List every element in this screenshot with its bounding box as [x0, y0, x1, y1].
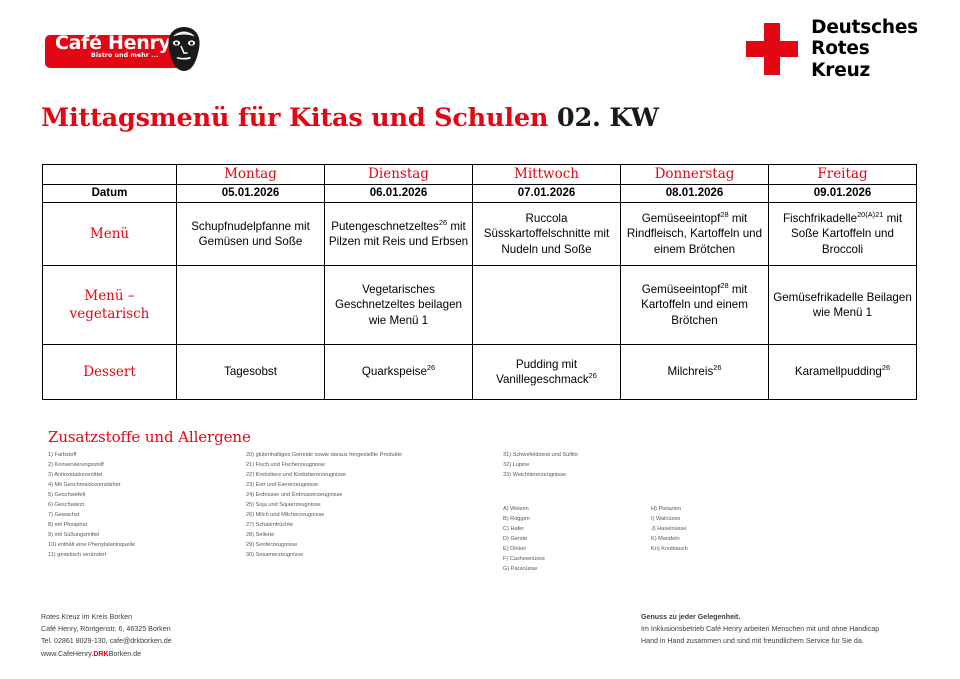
legend-item: F) Cashewnüsse — [503, 555, 545, 565]
row-label-menu: Menü — [43, 203, 177, 266]
legend-item: I) Walnüsse — [651, 515, 688, 525]
menu-veg-montag — [177, 266, 325, 345]
page-header: Café Henry Bistro und mehr ... Deutsches… — [0, 0, 960, 96]
legend-title: Zusatzstoffe und Allergene — [48, 428, 928, 446]
dessert-montag: Tagesobst — [177, 345, 325, 400]
legend-item: 27) Schalenfrüchte — [246, 521, 402, 531]
footer-org-name: Rotes Kreuz im Kreis Borken — [41, 611, 172, 623]
cafe-henry-logo-tagline: Bistro und mehr ... — [91, 52, 159, 59]
drk-logo-text: Deutsches Rotes Kreuz — [811, 17, 918, 82]
day-header-dienstag: Dienstag — [325, 165, 473, 185]
legend-item: G) Paranüsse — [503, 565, 545, 575]
bearded-man-face-icon — [153, 26, 215, 74]
table-row-days: Montag Dienstag Mittwoch Donnerstag Frei… — [43, 165, 917, 185]
legend-item: 6) Geschwärzt — [48, 501, 135, 511]
menu-veg-freitag: Gemüsefrikadelle Beilagen wie Menü 1 — [769, 266, 917, 345]
legend-item: 25) Soja und Sojaerzeugnisse — [246, 501, 402, 511]
drk-line-1: Deutsches — [811, 17, 918, 39]
footer-url-suffix: Borken.de — [109, 650, 141, 658]
legend-item: 31) Schwefeldioxid und Sulfite — [503, 451, 578, 461]
weekly-menu-table: Montag Dienstag Mittwoch Donnerstag Frei… — [42, 164, 917, 400]
legend-item: 33) Weichtiererzeugnisse — [503, 471, 578, 481]
table-row-menu-vegetarisch: Menü – vegetarisch Vegetarisches Geschne… — [43, 266, 917, 345]
additives-allergens-legend: Zusatzstoffe und Allergene 1) Farbstoff2… — [48, 428, 928, 569]
legend-item: 21) Fisch und Fischerzeugnisse — [246, 461, 402, 471]
legend-item: C) Hafer — [503, 525, 545, 535]
date-donnerstag: 08.01.2026 — [621, 185, 769, 203]
footer-url-accent: DRK — [93, 650, 108, 658]
menu-montag: Schupfnudelpfanne mit Gemüsen und Soße — [177, 203, 325, 266]
legend-item: A) Weizen — [503, 505, 545, 515]
legend-item: B) Roggen — [503, 515, 545, 525]
day-header-montag: Montag — [177, 165, 325, 185]
legend-item: H) Pistazien — [651, 505, 688, 515]
footer-slogan: Genuss zu jeder Gelegenheit. Im Inklusio… — [641, 611, 879, 648]
dessert-freitag: Karamellpudding26 — [769, 345, 917, 400]
row-label-menu-veg-line2: vegetarisch — [70, 306, 150, 322]
footer-slogan-line3: Hand in Hand zusammen und sind mit freun… — [641, 635, 879, 647]
menu-mittwoch: Ruccola Süsskartoffelschnitte mit Nudeln… — [473, 203, 621, 266]
legend-item: 7) Gewachst — [48, 511, 135, 521]
legend-item: 5) Geschwefelt — [48, 491, 135, 501]
footer-slogan-line2: Im Inklusionsbetrieb Café Henry arbeiten… — [641, 623, 879, 635]
legend-item: K) Mandeln — [651, 535, 688, 545]
cafe-henry-logo: Café Henry Bistro und mehr ... — [45, 26, 225, 74]
menu-veg-dienstag: Vegetarisches Geschnetzeltes beilagen wi… — [325, 266, 473, 345]
menu-veg-donnerstag: Gemüseeintopf28 mit Kartoffeln und einem… — [621, 266, 769, 345]
dessert-mittwoch: Pudding mit Vanillegeschmack26 — [473, 345, 621, 400]
day-header-freitag: Freitag — [769, 165, 917, 185]
table-row-datum: Datum 05.01.2026 06.01.2026 07.01.2026 0… — [43, 185, 917, 203]
legend-column-cereals-nuts-a-g: A) WeizenB) RoggenC) HaferD) GersteE) Di… — [503, 505, 545, 575]
dessert-dienstag: Quarkspeise26 — [325, 345, 473, 400]
date-mittwoch: 07.01.2026 — [473, 185, 621, 203]
row-label-menu-veg-line1: Menü – — [84, 288, 134, 304]
table-row-menu: Menü Schupfnudelpfanne mit Gemüsen und S… — [43, 203, 917, 266]
day-header-donnerstag: Donnerstag — [621, 165, 769, 185]
legend-item: 1) Farbstoff — [48, 451, 135, 461]
legend-item: D) Gerste — [503, 535, 545, 545]
legend-item: 30) Sesamerzeugnisse — [246, 551, 402, 561]
footer-phone-email: Tel. 02861 8029-130, cafe@drkborken.de — [41, 635, 172, 647]
legend-item: 26) Milch und Milcherzeugnisse — [246, 511, 402, 521]
legend-item: 24) Erdnüsse und Erdnusserzeugnisse — [246, 491, 402, 501]
dessert-donnerstag: Milchreis26 — [621, 345, 769, 400]
legend-column-nuts-h-kn: H) PistazienI) WalnüsseJ) HaselnüsseK) M… — [651, 505, 688, 555]
date-montag: 05.01.2026 — [177, 185, 325, 203]
legend-item: 22) Krebstiere und Krebstiererzeugnisse — [246, 471, 402, 481]
row-label-menu-vegetarisch: Menü – vegetarisch — [43, 266, 177, 345]
table-row-dessert: Dessert Tagesobst Quarkspeise26 Pudding … — [43, 345, 917, 400]
footer-url-prefix: www.CafeHenry. — [41, 650, 93, 658]
menu-donnerstag: Gemüseeintopf28 mit Rindfleisch, Kartoff… — [621, 203, 769, 266]
legend-item: 8) mit Phosphat — [48, 521, 135, 531]
red-cross-icon — [746, 23, 798, 75]
date-freitag: 09.01.2026 — [769, 185, 917, 203]
footer-slogan-headline: Genuss zu jeder Gelegenheit. — [641, 611, 879, 623]
legend-column-allergens-20-30: 20) glutenhaltiges Getreide sowie daraus… — [246, 451, 402, 561]
date-dienstag: 06.01.2026 — [325, 185, 473, 203]
legend-columns: 1) Farbstoff2) Konservierungsstoff3) Ant… — [48, 451, 928, 569]
menu-freitag: Fischfrikadelle20(A)21 mit Soße Kartoffe… — [769, 203, 917, 266]
menu-veg-mittwoch — [473, 266, 621, 345]
menu-dienstag: Putengeschnetzeltes26 mit Pilzen mit Rei… — [325, 203, 473, 266]
legend-item: 29) Senferzeugnisse — [246, 541, 402, 551]
row-label-dessert: Dessert — [43, 345, 177, 400]
legend-item: 4) Mit Geschmacksverstärker — [48, 481, 135, 491]
legend-item: 10) enthält eine Phenylalaninquelle — [48, 541, 135, 551]
table-corner-cell — [43, 165, 177, 185]
legend-item: 23) Eier und Eiererzeugnisse — [246, 481, 402, 491]
page-title: Mittagsmenü für Kitas und Schulen 02. KW — [41, 103, 659, 133]
legend-item: Kn) Knoblauch — [651, 545, 688, 555]
legend-item: 3) Antioxidationsmittel — [48, 471, 135, 481]
legend-item: 20) glutenhaltiges Getreide sowie daraus… — [246, 451, 402, 461]
legend-item: 9) mit Süßungsmittel — [48, 531, 135, 541]
footer-contact: Rotes Kreuz im Kreis Borken Café Henry, … — [41, 611, 172, 660]
drk-logo: Deutsches Rotes Kreuz — [746, 18, 918, 80]
legend-item: E) Dinkel — [503, 545, 545, 555]
footer-address: Café Henry, Röntgenstr. 6, 46325 Borken — [41, 623, 172, 635]
footer-website[interactable]: www.CafeHenry.DRKBorken.de — [41, 648, 172, 660]
drk-line-3: Kreuz — [811, 60, 918, 82]
legend-item: 11) genetisch verändert — [48, 551, 135, 561]
page-title-main: Mittagsmenü für Kitas und Schulen — [41, 103, 548, 133]
legend-item: J) Haselnüsse — [651, 525, 688, 535]
day-header-mittwoch: Mittwoch — [473, 165, 621, 185]
legend-column-additives: 1) Farbstoff2) Konservierungsstoff3) Ant… — [48, 451, 135, 561]
row-label-datum: Datum — [43, 185, 177, 203]
legend-item: 32) Lupine — [503, 461, 578, 471]
drk-line-2: Rotes — [811, 38, 918, 60]
legend-item: 2) Konservierungsstoff — [48, 461, 135, 471]
page-title-week: 02. KW — [557, 103, 659, 133]
legend-column-allergens-31-33: 31) Schwefeldioxid und Sulfite32) Lupine… — [503, 451, 578, 481]
legend-item: 28) Sellerie — [246, 531, 402, 541]
